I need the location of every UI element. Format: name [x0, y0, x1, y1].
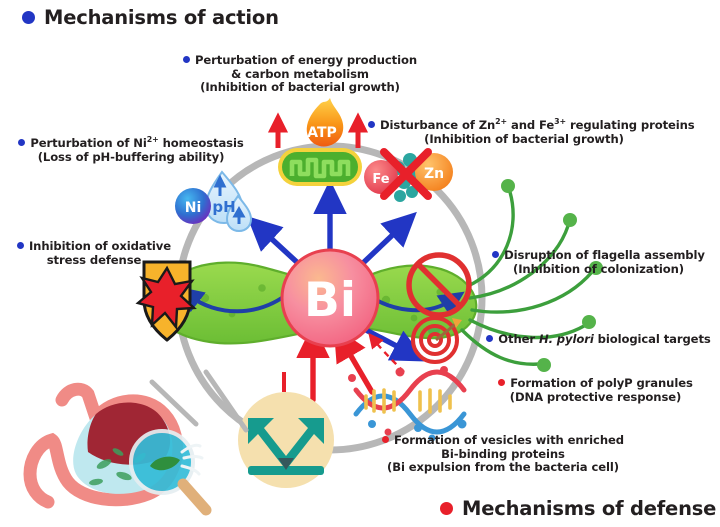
annotation-line: stress defense: [4, 254, 184, 268]
blue-bullet-icon: [492, 251, 499, 258]
annotation-polyp-granules: Formation of polyP granules (DNA protect…: [473, 377, 718, 404]
nickel-ph-icon: Ni pH: [175, 172, 251, 231]
bismuth-sphere: Bi: [282, 250, 378, 346]
annotation-line: Perturbation of energy production: [195, 53, 417, 67]
annotation-oxidative-stress: Inhibition of oxidative stress defense: [4, 240, 184, 267]
atp-label: ATP: [307, 125, 337, 141]
ph-label: pH: [212, 198, 235, 216]
blue-bullet-icon: [486, 335, 493, 342]
annotation-zinc-iron-proteins: Disturbance of Zn2+ and Fe3+ regulating …: [368, 119, 680, 146]
annotation-line: Inhibition of oxidative: [29, 239, 171, 253]
annotation-line: Bi-binding proteins: [363, 448, 643, 462]
annotation-line: & carbon metabolism: [170, 68, 430, 82]
species-name: H. pylori: [539, 332, 594, 346]
zinc-label: Zn: [424, 166, 444, 182]
legend-mechanisms-of-action: Mechanisms of action: [22, 6, 279, 29]
annotation-line: (DNA protective response): [473, 391, 718, 405]
annotation-line: (Loss of pH-buffering ability): [6, 151, 256, 165]
bullseye-target-icon: [413, 318, 462, 362]
annotation-nickel-homeostasis: Perturbation of Ni2+ homeostasis (Loss o…: [6, 137, 256, 164]
zn-charge: 2+: [495, 117, 507, 126]
nickel-label: Ni: [185, 200, 202, 216]
annotation-other-targets: Other H. pylori biological targets: [481, 333, 716, 347]
red-dot-icon: [440, 502, 453, 515]
blue-dot-icon: [22, 11, 35, 24]
annotation-line: (Inhibition of bacterial growth): [368, 133, 680, 147]
annotation-vesicle-formation: Formation of vesicles with enriched Bi-b…: [363, 434, 643, 475]
annotation-line: Formation of polyP granules: [510, 376, 693, 390]
blue-bullet-icon: [18, 139, 25, 146]
iron-label: Fe: [372, 172, 389, 187]
vesicle-efflux-icon: [238, 392, 334, 488]
atp-flame-icon: ATP: [272, 98, 364, 186]
annotation-line: Formation of vesicles with enriched: [394, 433, 624, 447]
annotation-line: (Bi expulsion from the bacteria cell): [363, 461, 643, 475]
annotation-flagella-assembly: Disruption of flagella assembly (Inhibit…: [481, 249, 716, 276]
annotation-energy-metabolism: Perturbation of energy production & carb…: [170, 54, 430, 95]
fe-charge: 3+: [554, 117, 566, 126]
legend-action-label: Mechanisms of action: [44, 6, 279, 29]
annotation-line: (Inhibition of colonization): [481, 263, 716, 277]
legend-defense-label: Mechanisms of defense: [462, 497, 716, 520]
blue-bullet-icon: [368, 121, 375, 128]
bismuth-label: Bi: [304, 273, 356, 328]
blue-bullet-icon: [17, 242, 24, 249]
red-bullet-icon: [498, 379, 505, 386]
ni-charge: 2+: [147, 135, 159, 144]
legend-mechanisms-of-defense: Mechanisms of defense: [440, 497, 716, 520]
red-bullet-icon: [382, 436, 389, 443]
annotation-line: Disruption of flagella assembly: [504, 248, 705, 262]
annotation-line: (Inhibition of bacterial growth): [170, 81, 430, 95]
defense-arrows: [313, 344, 372, 400]
blue-bullet-icon: [183, 56, 190, 63]
